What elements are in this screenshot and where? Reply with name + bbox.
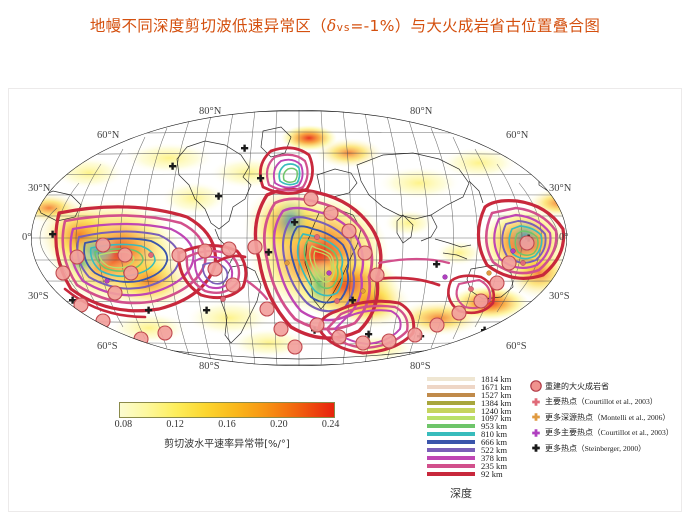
depth-color-swatch <box>427 424 475 428</box>
colorbar-tick: 0.12 <box>166 419 184 430</box>
map-content <box>19 110 579 367</box>
geo-label: 80°N <box>410 106 432 117</box>
geo-label: 0° <box>559 232 568 243</box>
geo-label: 80°S <box>410 361 431 372</box>
geo-label: 30°S <box>549 291 570 302</box>
mollweide-map-svg <box>19 103 579 373</box>
geo-label: 30°N <box>549 183 571 194</box>
depth-color-swatch <box>427 408 475 412</box>
symbol-legend-label: 更多热点（Steinberger, 2000） <box>545 443 646 454</box>
geo-label: 30°S <box>28 291 49 302</box>
colorbar-tick: 0.20 <box>270 419 288 430</box>
title-subscript: vs <box>337 21 351 34</box>
more-primary-hotspot-icon <box>529 426 543 440</box>
geo-label: 0° <box>22 232 31 243</box>
symbol-legend-marker <box>527 395 545 409</box>
symbol-legend-label: 重建的大火成岩省 <box>545 381 609 392</box>
depth-color-swatch <box>427 416 475 420</box>
depth-color-swatch <box>427 464 475 468</box>
symbol-legend-item: 重建的大火成岩省 <box>527 379 682 393</box>
depth-color-swatch <box>427 448 475 452</box>
title-part-1: 地幔不同深度剪切波低速异常区（ <box>90 17 327 35</box>
more-hotspot-icon <box>529 441 543 455</box>
depth-color-swatch <box>427 432 475 436</box>
geo-label: 80°N <box>199 106 221 117</box>
geo-label: 60°S <box>506 341 527 352</box>
geo-label: 80°S <box>199 361 220 372</box>
geo-label: 60°N <box>506 130 528 141</box>
colorbar-gradient <box>119 402 335 418</box>
symbol-legend-label: 更多深源热点（Montelli et al., 2006） <box>545 412 670 423</box>
colorbar: 0.080.120.160.200.24 剪切波水平速率异常带[%/°] <box>119 402 351 450</box>
colorbar-tick: 0.16 <box>218 419 236 430</box>
primary-hotspot-icon <box>529 395 543 409</box>
page-title: 地幔不同深度剪切波低速异常区（δvs=-1%）与大火成岩省古位置叠合图 <box>0 14 690 36</box>
depth-color-swatch <box>427 401 475 405</box>
depth-color-swatch <box>427 456 475 460</box>
depth-legend-item: 92 km <box>427 470 537 478</box>
symbol-legend-marker <box>527 441 545 455</box>
colorbar-tick: 0.08 <box>115 419 133 430</box>
colorbar-tick: 0.24 <box>322 419 340 430</box>
depth-color-swatch <box>427 385 475 389</box>
symbol-legend-item: 更多深源热点（Montelli et al., 2006） <box>527 410 682 424</box>
depth-color-swatch <box>427 377 475 381</box>
symbol-legend: 重建的大火成岩省主要热点（Courtillot et al., 2003）更多深… <box>527 379 682 457</box>
depth-legend: 1814 km1671 km1527 km1384 km1240 km1097 … <box>427 375 537 501</box>
depth-value-label: 92 km <box>481 470 503 478</box>
world-map: 80°N 80°N 60°N 60°N 30°N 30°N 0° 0° 30°S… <box>19 103 579 373</box>
depth-color-swatch <box>427 393 475 397</box>
geo-label: 60°N <box>97 130 119 141</box>
depth-color-swatch <box>427 472 475 476</box>
figure-panel: 80°N 80°N 60°N 60°N 30°N 30°N 0° 0° 30°S… <box>8 88 682 512</box>
symbol-legend-label: 更多主要热点（Courtillot et al., 2003） <box>545 427 673 438</box>
symbol-legend-marker <box>527 379 545 393</box>
symbol-legend-marker <box>527 426 545 440</box>
delta-symbol: δ <box>327 17 337 35</box>
deep-source-hotspot-icon <box>529 410 543 424</box>
symbol-legend-item: 更多主要热点（Courtillot et al., 2003） <box>527 426 682 440</box>
symbol-legend-item: 主要热点（Courtillot et al., 2003） <box>527 395 682 409</box>
geo-label: 60°S <box>97 341 118 352</box>
symbol-legend-item: 更多热点（Steinberger, 2000） <box>527 441 682 455</box>
colorbar-label: 剪切波水平速率异常带[%/°] <box>119 435 335 450</box>
symbol-legend-label: 主要热点（Courtillot et al., 2003） <box>545 396 657 407</box>
lip-circle-icon <box>529 379 543 393</box>
depth-legend-title: 深度 <box>437 485 485 501</box>
colorbar-ticks: 0.080.120.160.200.24 <box>119 419 351 433</box>
title-part-3: 与大火成岩省古位置叠合图 <box>411 17 601 35</box>
geo-label: 30°N <box>28 183 50 194</box>
symbol-legend-marker <box>527 410 545 424</box>
title-part-2: =-1%） <box>350 17 410 35</box>
depth-legend-rows: 1814 km1671 km1527 km1384 km1240 km1097 … <box>427 375 537 478</box>
depth-color-swatch <box>427 440 475 444</box>
